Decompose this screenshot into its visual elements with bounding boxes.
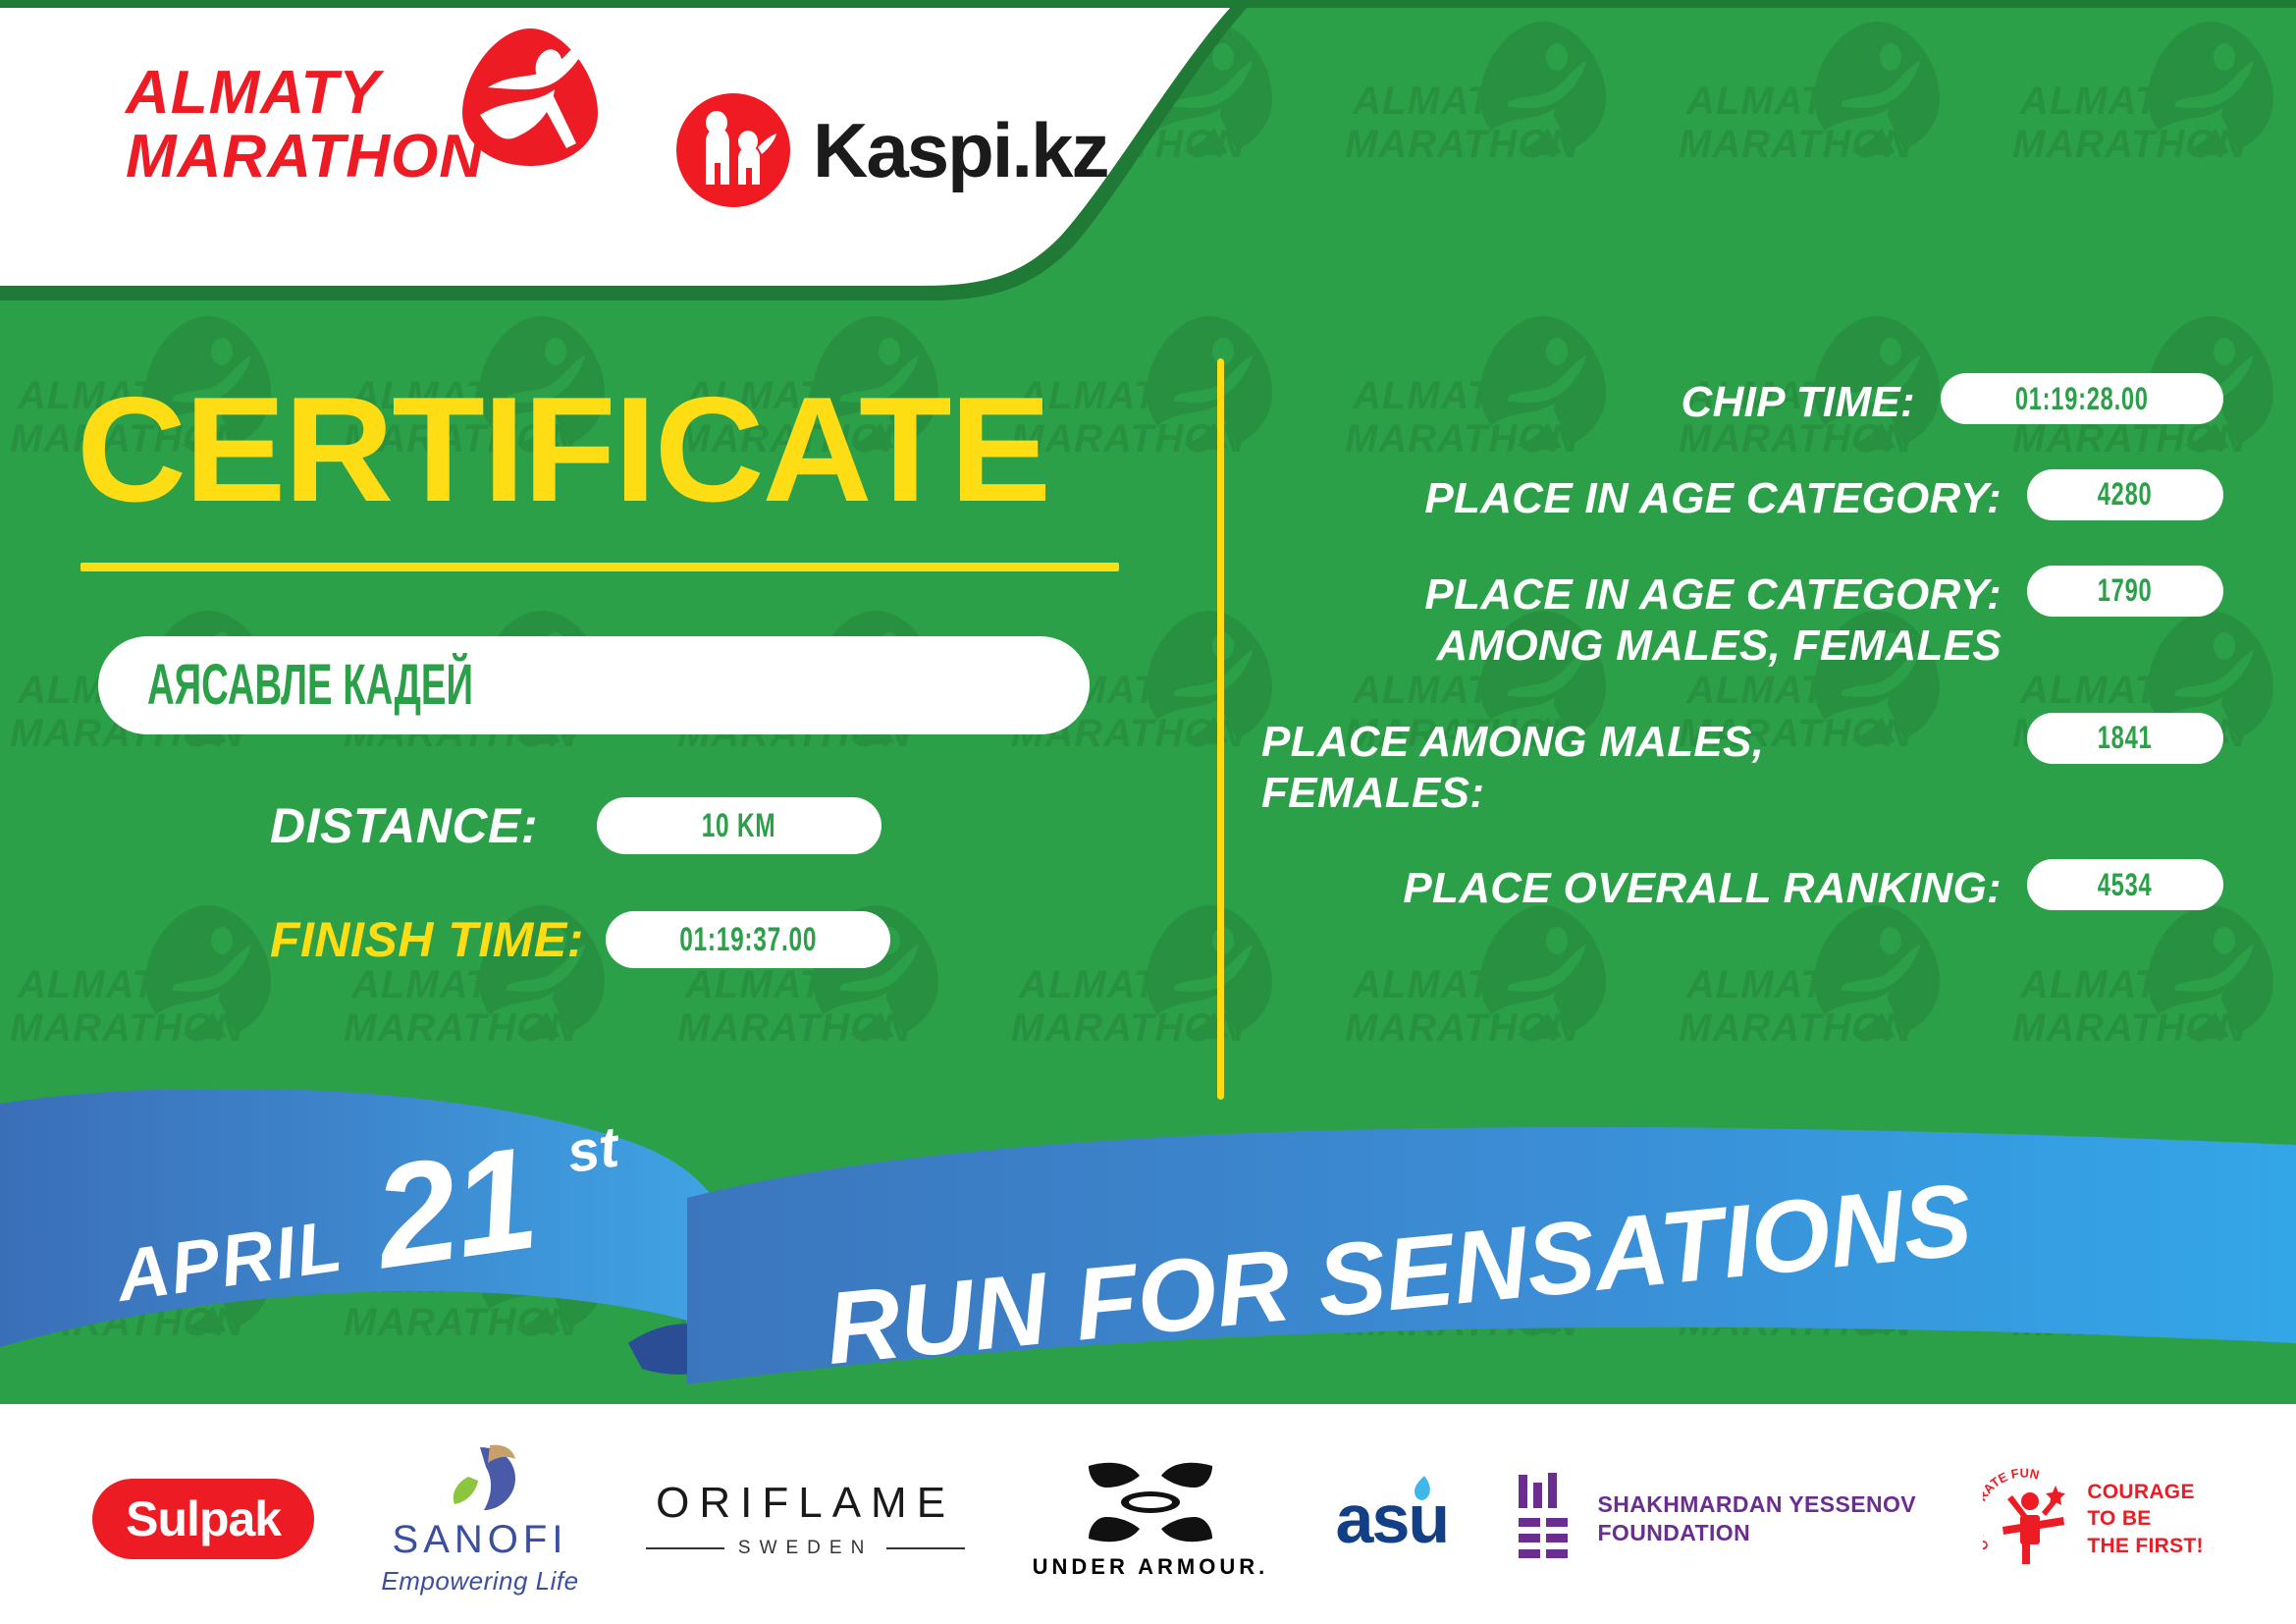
- sponsor-yessenov-label: SHAKHMARDAN YESSENOV: [1597, 1490, 1916, 1519]
- sponsor-under-armour: UNDER ARMOUR.: [1033, 1458, 1269, 1580]
- sponsor-oriflame: ORIFLAME SWEDEN: [646, 1479, 965, 1559]
- sponsor-yessenov-label2: FOUNDATION: [1597, 1519, 1916, 1547]
- place-among-gender-label: PLACE AMONG MALES, FEMALES:: [1261, 713, 2027, 819]
- oriflame-rule-left: [646, 1547, 724, 1549]
- sponsor-footer: Sulpak SANOFI Empowering Life ORIFLAME S…: [0, 1414, 2296, 1624]
- sponsor-oriflame-tagline-row: SWEDEN: [646, 1538, 965, 1559]
- place-overall-label: PLACE OVERALL RANKING:: [1261, 859, 2027, 914]
- sponsor-yessenov-foundation: SHAKHMARDAN YESSENOV FOUNDATION: [1515, 1471, 1916, 1567]
- title-underline: [80, 563, 1119, 571]
- sponsor-oriflame-label: ORIFLAME: [656, 1479, 955, 1528]
- certificate-canvas: ALMATY MARATHON ALMATY MARATHON: [0, 0, 2296, 1624]
- sponsor-asu: asu: [1336, 1480, 1449, 1558]
- chip-time-label: CHIP TIME:: [1261, 373, 1941, 428]
- place-among-gender-value-pill: 1841: [2027, 713, 2223, 764]
- participant-name-field: АЯСАВЛЕ КАДЕЙ: [98, 636, 1090, 734]
- chip-time-value-pill: 01:19:28.00: [1941, 373, 2223, 424]
- ribbon-graphic: APRIL 21 st RUN FOR SENSATIONS: [0, 1090, 2296, 1414]
- almaty-marathon-logo-line1: ALMATY: [126, 61, 484, 125]
- yessenov-mark-icon: [1515, 1471, 1577, 1567]
- result-row-chip-time: CHIP TIME: 01:19:28.00: [1261, 373, 2223, 428]
- ribbon-day: 21: [362, 1116, 544, 1299]
- place-age-category-value: 4280: [2098, 476, 2153, 513]
- oriflame-rule-right: [886, 1547, 965, 1549]
- place-age-category-gender-label: PLACE IN AGE CATEGORY: AMONG MALES, FEMA…: [1261, 566, 2027, 672]
- distance-value: 10 KM: [702, 807, 776, 845]
- ribbon-left-band: [0, 1090, 746, 1347]
- almaty-marathon-logo: ALMATY MARATHON: [126, 61, 604, 189]
- ribbon-day-suffix: st: [563, 1114, 625, 1185]
- place-overall-value-pill: 4534: [2027, 859, 2223, 910]
- courage-runner-icon: CORPORATE FUND: [1983, 1468, 2077, 1570]
- place-overall-value: 4534: [2098, 867, 2153, 903]
- sponsor-sanofi-label: SANOFI: [393, 1518, 568, 1562]
- place-age-category-gender-value-pill: 1790: [2027, 566, 2223, 617]
- finish-time-row: FINISH TIME: 01:19:37.00: [270, 911, 890, 968]
- sponsor-courage-label3: THE FIRST!: [2087, 1533, 2204, 1559]
- participant-name-value: АЯСАВЛЕ КАДЕЙ: [147, 657, 473, 714]
- kaspi-logo-text: Kaspi.kz: [813, 106, 1107, 195]
- chip-time-value: 01:19:28.00: [2015, 381, 2149, 417]
- kaspi-logo: Kaspi.kz: [673, 90, 1107, 210]
- sponsor-under-armour-label: UNDER ARMOUR.: [1033, 1554, 1269, 1580]
- place-age-category-value-pill: 4280: [2027, 469, 2223, 520]
- column-divider: [1217, 358, 1224, 1100]
- place-age-category-gender-value: 1790: [2098, 572, 2153, 609]
- sponsor-courage-label: COURAGE: [2087, 1479, 2204, 1505]
- finish-time-value: 01:19:37.00: [679, 921, 817, 959]
- result-row-place-age-category: PLACE IN AGE CATEGORY: 4280: [1261, 469, 2223, 524]
- sponsor-sulpak-label: Sulpak: [92, 1479, 314, 1559]
- result-row-place-overall: PLACE OVERALL RANKING: 4534: [1261, 859, 2223, 914]
- sponsor-courage-fund: CORPORATE FUND COURAGE TO BE THE FIRST!: [1983, 1468, 2204, 1570]
- distance-label: DISTANCE:: [270, 797, 538, 854]
- under-armour-icon: [1079, 1458, 1222, 1548]
- page-title: CERTIFICATE: [77, 375, 1049, 524]
- almaty-marathon-logo-line2: MARATHON: [126, 125, 484, 189]
- running-man-drop-icon: [456, 23, 604, 170]
- place-among-gender-value: 1841: [2098, 720, 2153, 756]
- sponsor-courage-label2: TO BE: [2087, 1505, 2204, 1532]
- finish-time-label: FINISH TIME:: [270, 911, 584, 968]
- asu-droplet-icon: [1409, 1474, 1438, 1507]
- sponsor-sanofi-tagline: Empowering Life: [381, 1566, 578, 1597]
- sponsor-oriflame-tagline: SWEDEN: [738, 1538, 873, 1559]
- finish-time-value-pill: 01:19:37.00: [606, 911, 890, 968]
- place-age-category-label: PLACE IN AGE CATEGORY:: [1261, 469, 2027, 524]
- top-green-strip: [0, 0, 2296, 8]
- sanofi-mark-icon: [435, 1441, 525, 1518]
- result-row-place-among-gender: PLACE AMONG MALES, FEMALES: 1841: [1261, 713, 2223, 819]
- sponsor-sanofi: SANOFI Empowering Life: [381, 1441, 578, 1597]
- results-column: CHIP TIME: 01:19:28.00 PLACE IN AGE CATE…: [1261, 373, 2223, 955]
- distance-value-pill: 10 KM: [597, 797, 881, 854]
- result-row-place-age-category-gender: PLACE IN AGE CATEGORY: AMONG MALES, FEMA…: [1261, 566, 2223, 672]
- sponsor-sulpak: Sulpak: [92, 1479, 314, 1559]
- kaspi-people-icon: [673, 90, 793, 210]
- event-ribbon: APRIL 21 st RUN FOR SENSATIONS: [0, 1090, 2296, 1414]
- distance-row: DISTANCE: 10 KM: [270, 797, 881, 854]
